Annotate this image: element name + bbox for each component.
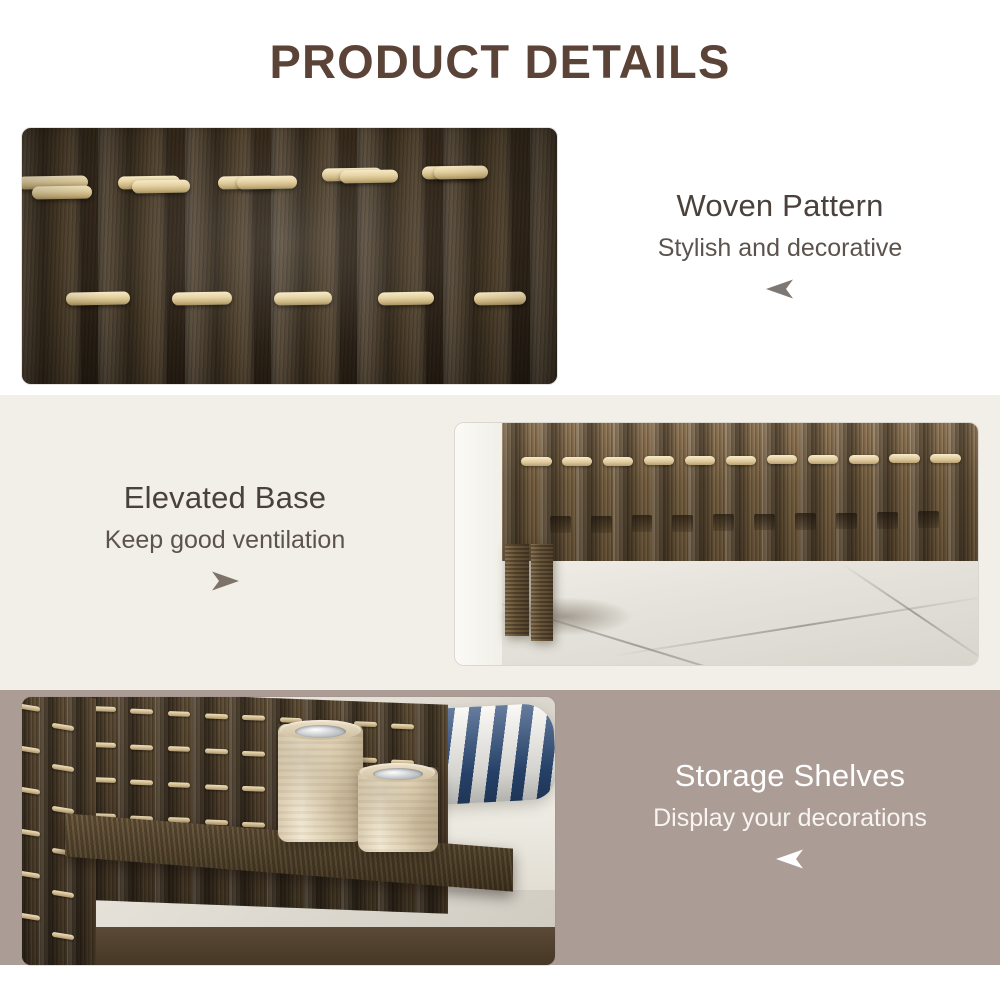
cabinet-accent-strip bbox=[644, 456, 674, 465]
feature-image-storage-shelves bbox=[22, 697, 555, 965]
tealight-cup bbox=[373, 768, 423, 780]
cabinet-leg-right bbox=[531, 544, 553, 641]
cabinet-accent-strip bbox=[889, 454, 919, 463]
cabinet-accent-strip bbox=[685, 456, 715, 465]
panel-accent-dash bbox=[131, 780, 154, 786]
arrow-left-icon bbox=[585, 279, 975, 299]
cabinet-accent-strip bbox=[603, 457, 633, 466]
cabinet-accent-strip bbox=[849, 455, 879, 464]
cabinet-weave-shadow bbox=[754, 514, 775, 531]
cabinet-accent-strip bbox=[767, 455, 797, 464]
candle-holder-short bbox=[358, 767, 438, 853]
cabinet-accent-strip bbox=[808, 455, 838, 464]
panel-accent-dash bbox=[94, 742, 117, 748]
panel-accent-dash bbox=[243, 751, 266, 757]
cabinet-accent-strip bbox=[726, 456, 756, 465]
cabinet-accent-strip bbox=[521, 457, 551, 466]
panel-accent-dash bbox=[131, 709, 154, 715]
feature-subheading-storage-shelves: Display your decorations bbox=[595, 803, 985, 833]
cabinet-body bbox=[502, 423, 978, 561]
cabinet-accent-strip bbox=[562, 457, 592, 466]
arrow-right-icon bbox=[30, 571, 420, 591]
panel-accent-dash bbox=[168, 782, 191, 788]
cabinet-leg-left bbox=[505, 544, 529, 636]
panel-accent-dash bbox=[392, 724, 415, 730]
feature-heading-elevated-base: Elevated Base bbox=[30, 480, 420, 516]
feature-subheading-elevated-base: Keep good ventilation bbox=[30, 525, 420, 555]
weave-vignette bbox=[22, 128, 557, 384]
candle-holder-tall bbox=[278, 724, 363, 842]
panel-accent-dash bbox=[205, 784, 228, 790]
birch-bark-texture bbox=[278, 724, 363, 842]
cabinet-weave-shadow bbox=[672, 515, 693, 532]
caption-woven-pattern: Woven Pattern Stylish and decorative bbox=[585, 188, 975, 299]
feature-image-elevated-base bbox=[455, 423, 978, 665]
cabinet-weave-shadow bbox=[632, 515, 653, 532]
panel-accent-dash bbox=[205, 713, 228, 719]
infographic-page: PRODUCT DETAILS bbox=[0, 0, 1000, 1000]
arrow-left-icon bbox=[595, 849, 985, 869]
background-band-footer bbox=[0, 965, 1000, 1000]
leg-fiber-texture bbox=[531, 544, 553, 641]
page-title: PRODUCT DETAILS bbox=[0, 34, 1000, 89]
feature-subheading-woven-pattern: Stylish and decorative bbox=[585, 233, 975, 263]
wall-surface bbox=[455, 423, 502, 665]
tealight-cup bbox=[295, 725, 346, 738]
panel-accent-dash bbox=[131, 744, 154, 750]
panel-accent-dash bbox=[205, 749, 228, 755]
cabinet-weave-shadow bbox=[713, 514, 734, 531]
cabinet-weave-shadow bbox=[591, 516, 612, 533]
leg-fiber-texture bbox=[505, 544, 529, 636]
panel-accent-dash bbox=[168, 711, 191, 717]
feature-heading-woven-pattern: Woven Pattern bbox=[585, 188, 975, 224]
cabinet-weave-shadow bbox=[795, 513, 816, 530]
feature-heading-storage-shelves: Storage Shelves bbox=[595, 758, 985, 794]
feature-image-woven-pattern bbox=[22, 128, 557, 384]
floor-strip bbox=[22, 927, 555, 965]
cabinet-weave-shadow bbox=[550, 516, 571, 533]
cabinet-fiber-texture bbox=[502, 423, 978, 561]
caption-elevated-base: Elevated Base Keep good ventilation bbox=[30, 480, 420, 591]
cabinet-accent-strip bbox=[930, 454, 960, 463]
cabinet-weave-shadow bbox=[918, 511, 939, 528]
cabinet-weave-shadow bbox=[877, 512, 898, 529]
caption-storage-shelves: Storage Shelves Display your decorations bbox=[595, 758, 985, 869]
cabinet-weave-shadow bbox=[836, 513, 857, 530]
